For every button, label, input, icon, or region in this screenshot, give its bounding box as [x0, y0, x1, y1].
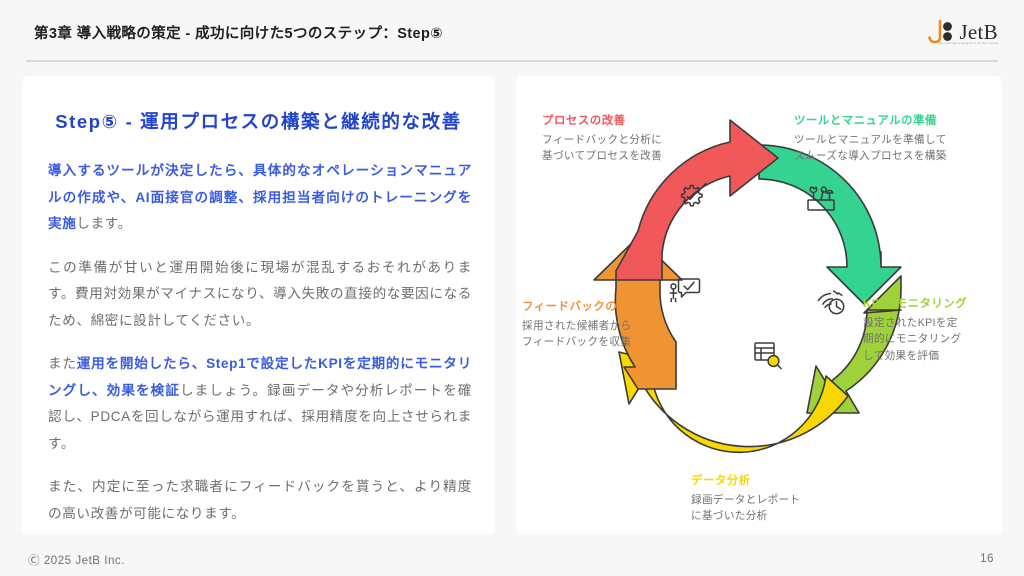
body-paragraph: また運用を開始したら、Step1で設定したKPIを定期的にモニタリングし、効果を…: [48, 351, 472, 457]
cycle-label-data: データ分析 録画データとレポート に基づいた分析: [691, 472, 800, 525]
cycle-label-tools-title: ツールとマニュアルの準備: [794, 112, 947, 128]
body-paragraph: この準備が甘いと運用開始後に現場が混乱するおそれがあります。費用対効果がマイナス…: [48, 255, 472, 335]
cycle-label-tools: ツールとマニュアルの準備 ツールとマニュアルを準備して スムーズな導入プロセスを…: [794, 112, 947, 165]
gauge-icon: [818, 291, 843, 314]
cycle-label-data-title: データ分析: [691, 472, 800, 488]
cycle-label-process-title: プロセスの改善: [542, 112, 662, 128]
person-feedback-icon: [670, 279, 699, 302]
cycle-label-feedback-desc: 採用された候補者から フィードバックを収集: [522, 318, 641, 351]
body-paragraph: また、内定に至った求職者にフィードバックを貰うと、より精度の高い改善が可能になり…: [48, 474, 472, 527]
header-divider: [26, 60, 998, 62]
header-chapter-title: 第3章 導入戦略の策定 - 成功に向けた5つのステップ：Step⑤: [34, 22, 443, 43]
cycle-label-feedback: フィードバックの収集 採用された候補者から フィードバックを収集: [522, 298, 641, 351]
footer-copyright: Ⓒ 2025 JetB Inc.: [28, 552, 125, 568]
logo-wordmark: JetB: [959, 22, 998, 43]
cycle-label-data-desc: 録画データとレポート に基づいた分析: [691, 492, 800, 525]
slide-canvas: 第3章 導入戦略の策定 - 成功に向けた5つのステップ：Step⑤ JetB w…: [0, 0, 1024, 576]
cycle-label-feedback-title: フィードバックの収集: [522, 298, 641, 314]
cycle-label-process-desc: フィードバックと分析に 基づいてプロセスを改善: [542, 132, 662, 165]
text-run: します。: [76, 216, 131, 231]
cycle-diagram: プロセスの改善 フィードバックと分析に 基づいてプロセスを改善 ツールとマニュア…: [516, 76, 1002, 535]
table-search-icon: [755, 343, 781, 369]
cycle-label-kpi-desc: 設定されたKPIを定 期的にモニタリング して効果を評価: [863, 315, 967, 364]
text-run: この準備が甘いと運用開始後に現場が混乱するおそれがあります。費用対効果がマイナス…: [48, 260, 472, 328]
body-copy-container: 導入するツールが決定したら、具体的なオペレーションマニュアルの作成や、AI面接官…: [48, 158, 472, 527]
slide-header: 第3章 導入戦略の策定 - 成功に向けた5つのステップ：Step⑤ JetB w…: [0, 0, 1024, 62]
logo-tagline: we provide a benefit at all the speed: [939, 41, 998, 45]
body-paragraph: 導入するツールが決定したら、具体的なオペレーションマニュアルの作成や、AI面接官…: [48, 158, 472, 238]
cycle-label-kpi: KPIのモニタリング 設定されたKPIを定 期的にモニタリング して効果を評価: [863, 295, 967, 364]
cycle-label-tools-desc: ツールとマニュアルを準備して スムーズな導入プロセスを構築: [794, 132, 947, 165]
text-run: また: [48, 356, 77, 371]
step-title: Step⑤ - 運用プロセスの構築と継続的な改善: [22, 108, 495, 134]
left-content-panel: Step⑤ - 運用プロセスの構築と継続的な改善 導入するツールが決定したら、具…: [22, 76, 495, 535]
cycle-label-process: プロセスの改善 フィードバックと分析に 基づいてプロセスを改善: [542, 112, 662, 165]
cycle-segment-tools: [759, 145, 901, 304]
footer-page-number: 16: [980, 552, 994, 565]
text-run: また、内定に至った求職者にフィードバックを貰うと、より精度の高い改善が可能になり…: [48, 479, 472, 521]
cycle-label-kpi-title: KPIのモニタリング: [863, 295, 967, 311]
